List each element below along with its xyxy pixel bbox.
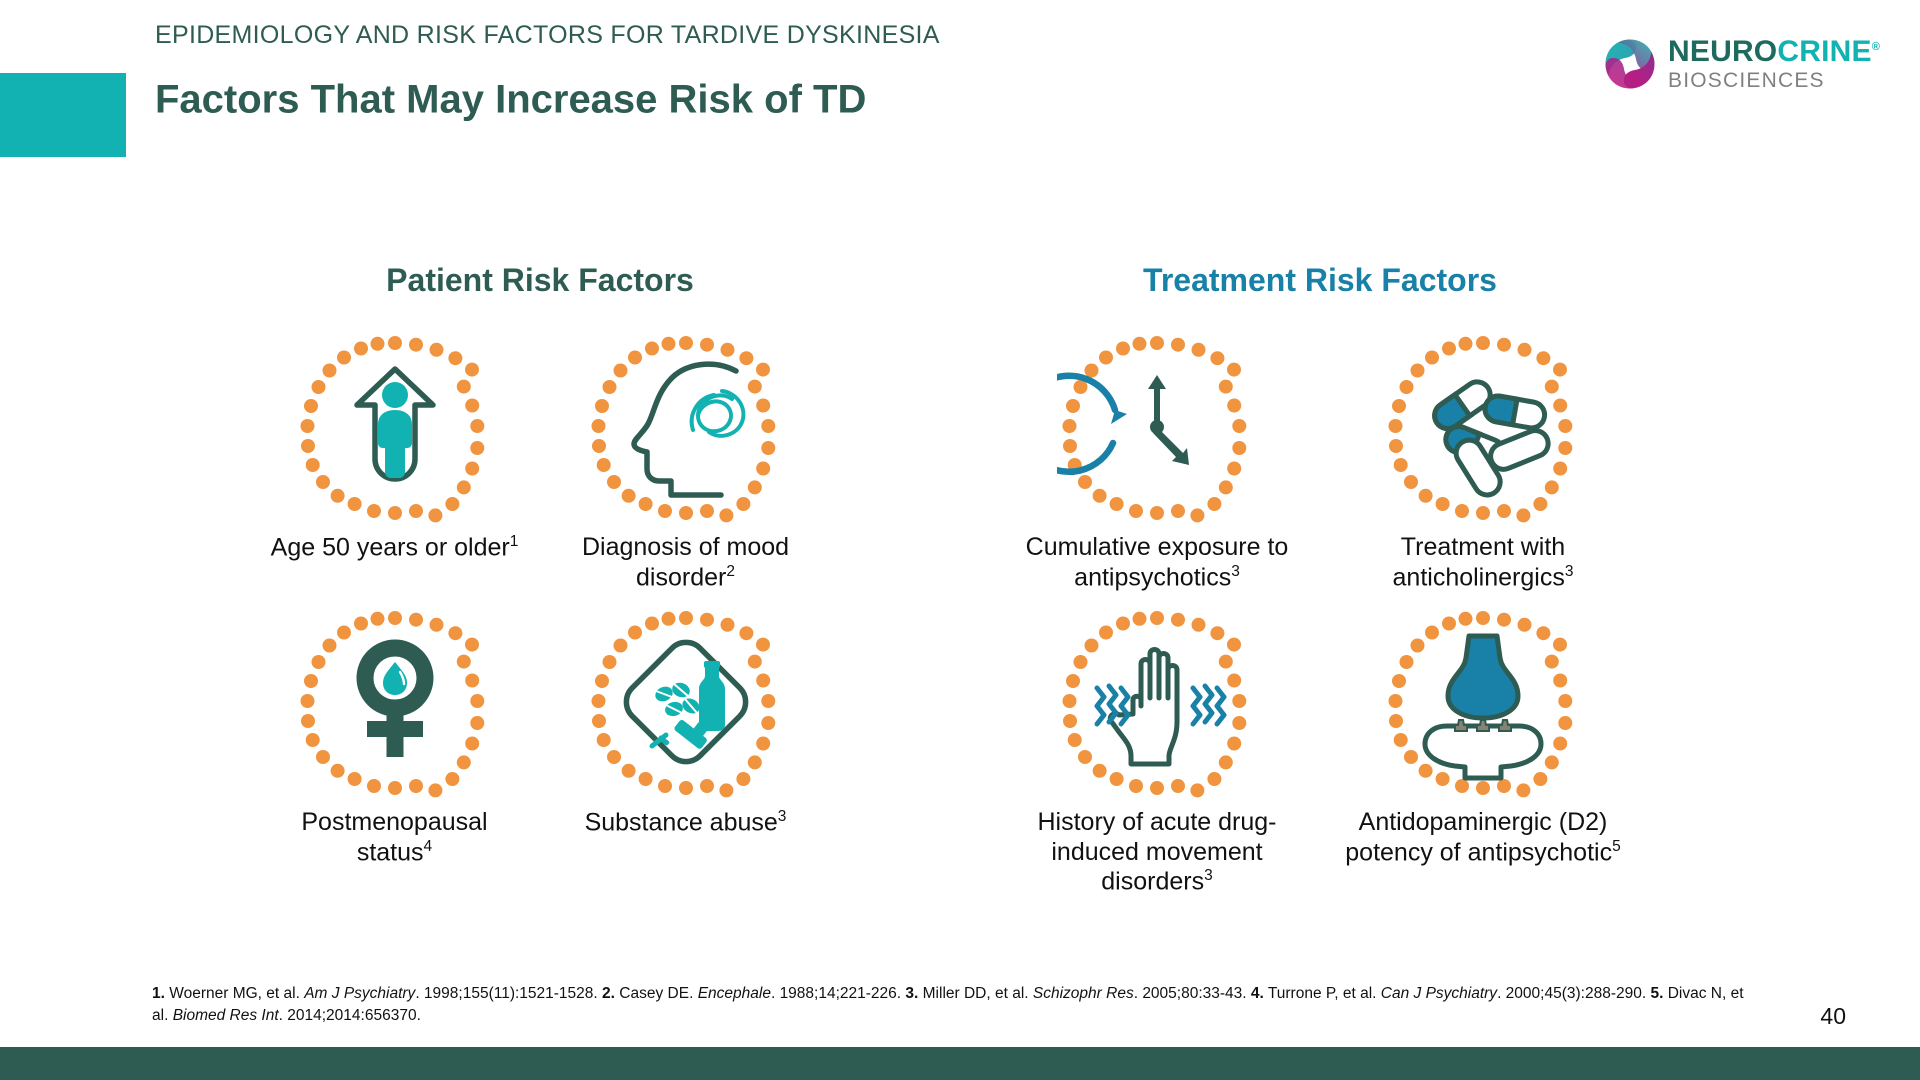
logo-word-part1: NEURO (1668, 35, 1777, 68)
neurocrine-logo: NEUROCRINE® BIOSCIENCES (1602, 36, 1880, 92)
page-title: Factors That May Increase Risk of TD (155, 78, 866, 123)
risk-card-label: History of acute drug-induced movement d… (1017, 808, 1297, 897)
logo-subtitle: BIOSCIENCES (1668, 70, 1880, 91)
risk-card-label: Treatment with anticholinergics3 (1343, 533, 1623, 592)
risk-card-cumulative-exposure[interactable]: Cumulative exposure to antipsychotics3 (1015, 327, 1299, 592)
logo-word-part2: CRINE (1777, 35, 1871, 68)
column-patient-risk-factors: Patient Risk Factors (270, 262, 810, 868)
risk-card-postmenopausal[interactable]: Postmenopausal status4 (270, 602, 519, 867)
column-heading-patient: Patient Risk Factors (270, 262, 810, 299)
references: 1. Woerner MG, et al. Am J Psychiatry. 1… (152, 983, 1752, 1028)
head-swirl-icon (586, 327, 786, 527)
risk-card-d2-potency[interactable]: Antidopaminergic (D2) potency of antipsy… (1341, 602, 1625, 897)
risk-card-label: Antidopaminergic (D2) potency of antipsy… (1343, 808, 1623, 867)
clock-arrow-icon (1057, 327, 1257, 527)
title-accent-block (0, 73, 126, 157)
risk-card-acute-movement-disorders[interactable]: History of acute drug-induced movement d… (1015, 602, 1299, 897)
female-symbol-icon (295, 602, 495, 802)
risk-card-label: Postmenopausal status4 (270, 808, 519, 867)
registered-mark: ® (1872, 41, 1880, 53)
eyebrow-text: EPIDEMIOLOGY AND RISK FACTORS FOR TARDIV… (155, 21, 940, 50)
footer-bar (0, 1047, 1920, 1080)
capsules-icon (1383, 327, 1583, 527)
substance-diamond-icon (586, 602, 786, 802)
risk-card-age[interactable]: Age 50 years or older1 (270, 327, 519, 592)
column-treatment-risk-factors: Treatment Risk Factors (1015, 262, 1625, 897)
risk-card-label: Diagnosis of mood disorder2 (561, 533, 810, 592)
logo-wordmark: NEUROCRINE® (1668, 37, 1880, 67)
risk-card-label: Cumulative exposure to antipsychotics3 (1017, 533, 1297, 592)
synapse-icon (1383, 602, 1583, 802)
risk-card-anticholinergics[interactable]: Treatment with anticholinergics3 (1341, 327, 1625, 592)
risk-card-label: Age 50 years or older1 (271, 533, 519, 563)
risk-card-label: Substance abuse3 (585, 808, 787, 838)
risk-card-mood-disorder[interactable]: Diagnosis of mood disorder2 (561, 327, 810, 592)
neurocrine-swirl-icon (1602, 36, 1658, 92)
column-heading-treatment: Treatment Risk Factors (1015, 262, 1625, 299)
tremor-hand-icon (1057, 602, 1257, 802)
person-up-arrow-icon (295, 327, 495, 527)
risk-card-substance-abuse[interactable]: Substance abuse3 (561, 602, 810, 867)
page-number: 40 (1820, 1003, 1846, 1030)
